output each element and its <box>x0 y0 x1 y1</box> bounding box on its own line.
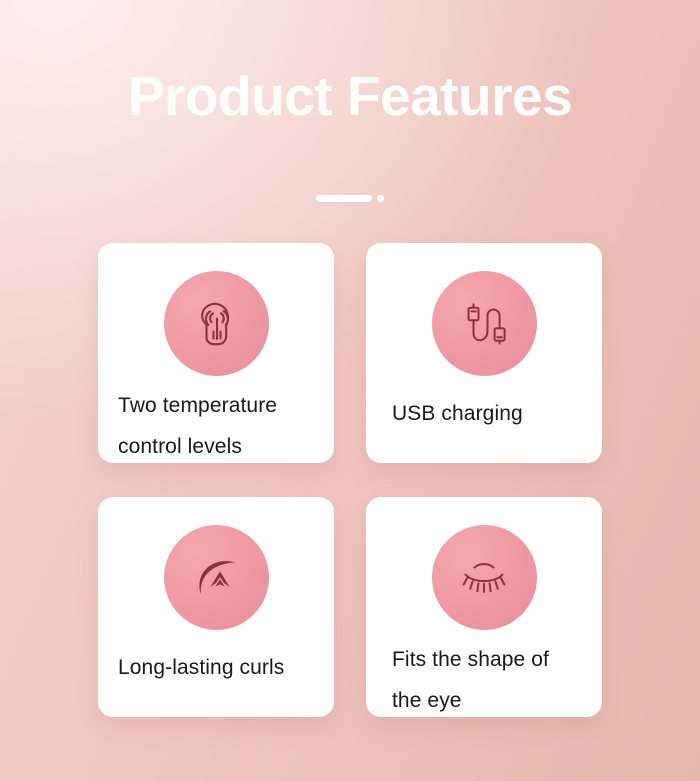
feature-card-temperature[interactable]: Two temperature control levels <box>98 243 334 463</box>
feature-label-line-1: USB charging <box>392 393 588 434</box>
feature-card-label: Fits the shape of the eye <box>392 639 588 721</box>
icon-circle <box>164 525 269 630</box>
usb-cable-icon <box>455 295 513 353</box>
feature-icon-container <box>366 271 602 376</box>
closed-eye-icon <box>454 549 514 607</box>
page-title: Product Features <box>0 68 700 126</box>
feature-card-eye[interactable]: Fits the shape of the eye <box>366 497 602 717</box>
divider-bar <box>316 195 372 202</box>
feature-label-line-2: the eye <box>392 680 588 721</box>
feature-label-line-2: control levels <box>118 426 320 467</box>
feature-icon-container <box>98 525 334 630</box>
feature-icon-container <box>98 271 334 376</box>
feature-card-label: Long-lasting curls <box>118 647 320 688</box>
icon-circle <box>432 525 537 630</box>
feature-label-line-1: Long-lasting curls <box>118 647 320 688</box>
feature-label-line-1: Fits the shape of <box>392 639 588 680</box>
feature-card-label: USB charging <box>392 393 588 434</box>
eyelash-curl-icon <box>187 549 245 607</box>
tap-hand-icon <box>187 295 245 353</box>
icon-circle <box>432 271 537 376</box>
feature-card-curls[interactable]: Long-lasting curls <box>98 497 334 717</box>
title-divider <box>0 193 700 203</box>
feature-card-grid: Two temperature control levels <box>98 243 602 717</box>
feature-card-label: Two temperature control levels <box>118 385 320 467</box>
feature-section: Product Features <box>0 0 700 781</box>
icon-circle <box>164 271 269 376</box>
divider-dot <box>377 195 384 202</box>
feature-card-usb[interactable]: USB charging <box>366 243 602 463</box>
feature-label-line-1: Two temperature <box>118 385 320 426</box>
feature-icon-container <box>366 525 602 630</box>
